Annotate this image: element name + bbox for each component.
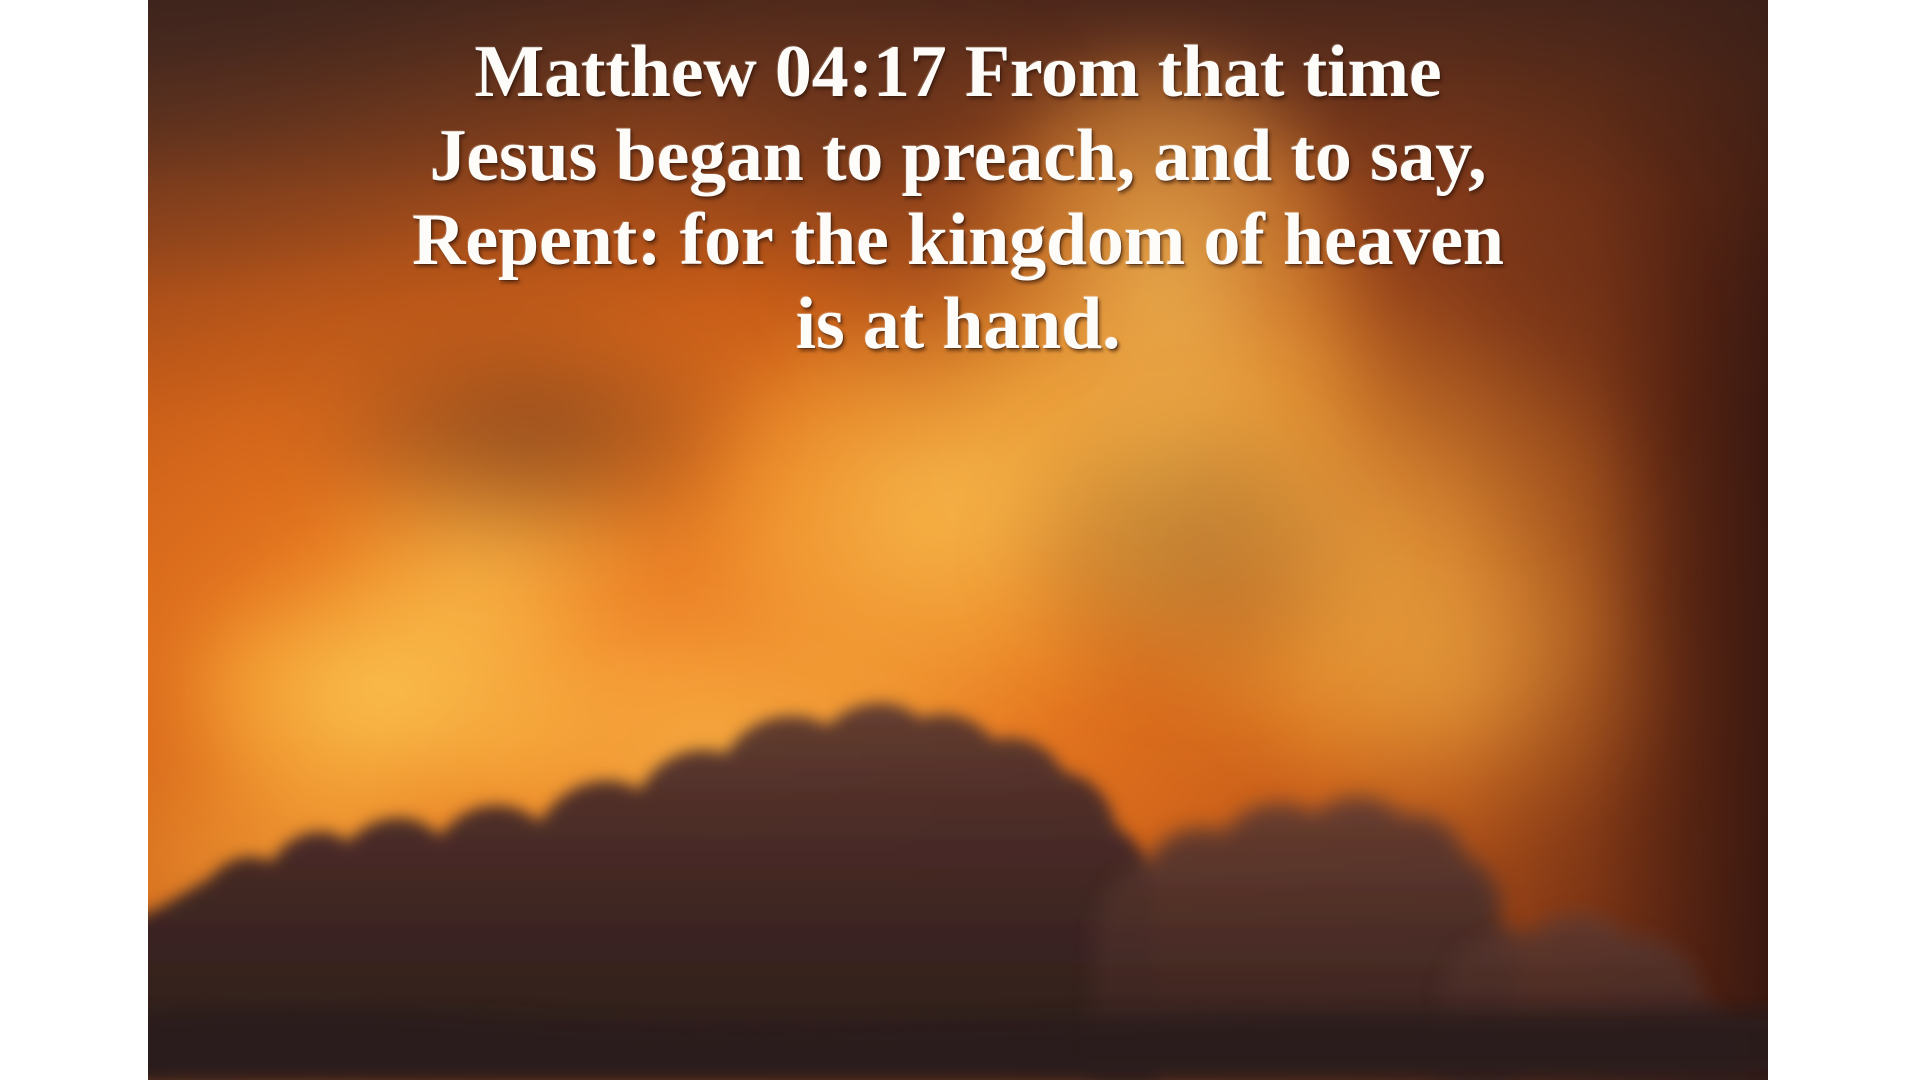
left-margin [0, 0, 148, 1080]
verse-text: Matthew 04:17 From that time Jesus began… [223, 30, 1693, 366]
slide-canvas: Matthew 04:17 From that time Jesus began… [0, 0, 1920, 1080]
right-margin [1768, 0, 1920, 1080]
dark-cloud-silhouette [148, 460, 1768, 1080]
verse-overlay: Matthew 04:17 From that time Jesus began… [148, 0, 1768, 366]
